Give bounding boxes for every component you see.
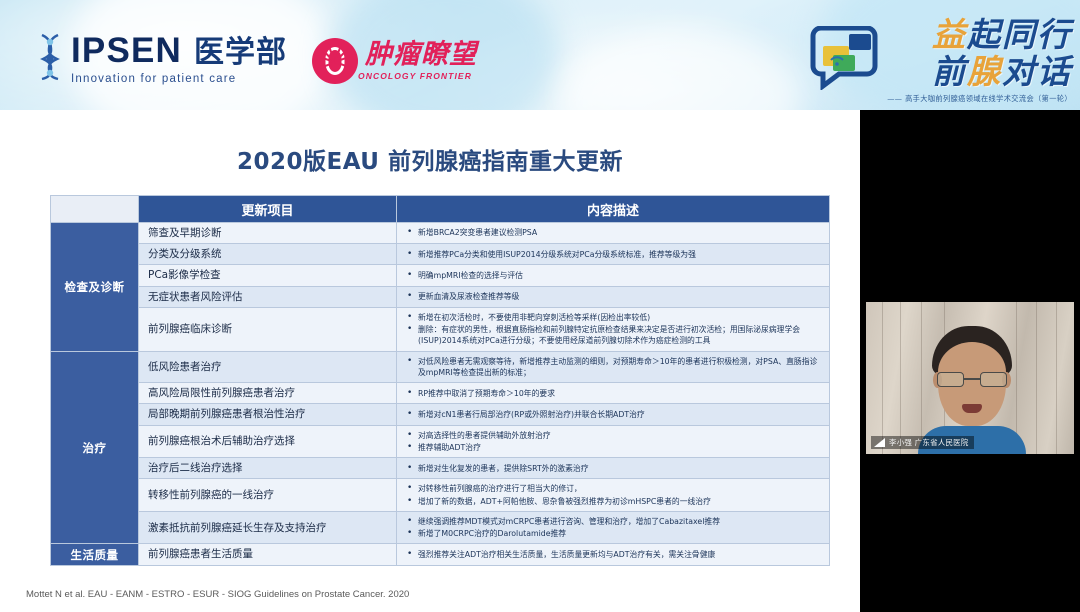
conference-logo: 益起同行 前腺对话 —— 高手大咖前列腺癌领域在线学术交流会（第一轮） xyxy=(809,18,1072,104)
table-description-cell: 新增在初次活检时，不要使用非靶向穿刺活检等采样(因检出率较低)删除：有症状的男性… xyxy=(397,307,830,351)
slide-title: 2020版EAU 前列腺癌指南重大更新 xyxy=(0,142,860,176)
table-item-cell: 前列腺癌临床诊断 xyxy=(139,307,397,351)
table-item-cell: 低风险患者治疗 xyxy=(139,351,397,383)
description-bullet: 对转移性前列腺癌的治疗进行了相当大的修订， xyxy=(407,483,823,494)
participant-name-label: 李小强 广东省人民医院 xyxy=(871,436,974,449)
table-description-cell: 新增BRCA2突变患者建议检测PSA xyxy=(397,223,830,244)
conf-title-line2-a: 前 xyxy=(932,52,967,91)
signal-strength-icon xyxy=(874,438,885,447)
oncology-frontier-cn: 肿瘤瞭望 xyxy=(365,41,477,68)
description-bullet: 对高选择性的患者提供辅助外放射治疗 xyxy=(407,430,823,441)
table-category-cell: 治疗 xyxy=(51,351,139,544)
slide-footer-citation: Mottet N et al. EAU - EANM - ESTRO - ESU… xyxy=(26,589,409,600)
description-bullet: 强烈推荐关注ADT治疗相关生活质量，生活质量更新均与ADT治疗有关，需关注骨健康 xyxy=(407,549,823,560)
description-bullet: RP推荐中取消了预期寿命＞10年的要求 xyxy=(407,388,823,399)
conf-title-line1: 起同行 xyxy=(967,15,1072,54)
description-bullet: 新增对cN1患者行局部治疗(RP或外照射治疗)并联合长期ADT治疗 xyxy=(407,409,823,420)
table-description-cell: 强烈推荐关注ADT治疗相关生活质量，生活质量更新均与ADT治疗有关，需关注骨健康 xyxy=(397,544,830,565)
conf-title-char-1: 益 xyxy=(932,15,967,54)
table-row: 局部晚期前列腺癌患者根治性治疗新增对cN1患者行局部治疗(RP或外照射治疗)并联… xyxy=(51,404,830,425)
table-category-cell: 生活质量 xyxy=(51,544,139,565)
presentation-slide: 2020版EAU 前列腺癌指南重大更新 更新项目 内容描述 检查及诊断筛查及早期… xyxy=(0,110,860,612)
glasses-icon xyxy=(937,372,1007,387)
table-row: 前列腺癌临床诊断新增在初次活检时，不要使用非靶向穿刺活检等采样(因检出率较低)删… xyxy=(51,307,830,351)
conf-title-line2-b: 腺 xyxy=(967,52,1002,91)
chat-bubble-icon xyxy=(809,26,879,90)
oncology-frontier-en: ONCOLOGY FRONTIER xyxy=(358,71,477,81)
table-row: 治疗后二线治疗选择新增对生化复发的患者，提供除SRT外的激素治疗 xyxy=(51,458,830,479)
table-item-cell: 高风险局限性前列腺癌患者治疗 xyxy=(139,383,397,404)
table-item-cell: 前列腺癌患者生活质量 xyxy=(139,544,397,565)
participant-video-tile[interactable]: 李小强 广东省人民医院 xyxy=(866,302,1074,454)
table-row: 激素抵抗前列腺癌延长生存及支持治疗继续强调推荐MDT模式对mCRPC患者进行咨询… xyxy=(51,511,830,544)
table-description-cell: 新增推荐PCa分类和使用ISUP2014分级系统对PCa分级系统标准，推荐等级为… xyxy=(397,244,830,265)
table-row: 高风险局限性前列腺癌患者治疗RP推荐中取消了预期寿命＞10年的要求 xyxy=(51,383,830,404)
table-description-cell: 更新血清及尿液检查推荐等级 xyxy=(397,286,830,307)
table-item-cell: 无症状患者风险评估 xyxy=(139,286,397,307)
table-header-row: 更新项目 内容描述 xyxy=(51,196,830,223)
table-body: 检查及诊断筛查及早期诊断新增BRCA2突变患者建议检测PSA分类及分级系统新增推… xyxy=(51,223,830,566)
header-banner: IPSEN 医学部 Innovation for patient care xyxy=(0,0,1080,110)
table-item-cell: 激素抵抗前列腺癌延长生存及支持治疗 xyxy=(139,511,397,544)
banner-blob xyxy=(560,30,800,110)
table-description-cell: 新增对生化复发的患者，提供除SRT外的激素治疗 xyxy=(397,458,830,479)
table-item-cell: 筛查及早期诊断 xyxy=(139,223,397,244)
table-item-cell: 分类及分级系统 xyxy=(139,244,397,265)
description-bullet: 更新血清及尿液检查推荐等级 xyxy=(407,291,823,302)
description-bullet: 继续强调推荐MDT模式对mCRPC患者进行咨询、管理和治疗，增加了Cabazit… xyxy=(407,516,823,527)
description-bullet: 新增BRCA2突变患者建议检测PSA xyxy=(407,227,823,238)
video-panel[interactable]: 李小强 广东省人民医院 xyxy=(860,110,1080,612)
description-bullet: 增加了新的数据，ADT+阿帕他胺、恩杂鲁被强烈推荐为初诊mHSPC患者的一线治疗 xyxy=(407,496,823,507)
table-description-cell: 继续强调推荐MDT模式对mCRPC患者进行咨询、管理和治疗，增加了Cabazit… xyxy=(397,511,830,544)
table-header-corner xyxy=(51,196,139,223)
table-header-item: 更新项目 xyxy=(139,196,397,223)
table-description-cell: 对高选择性的患者提供辅助外放射治疗推荐辅助ADT治疗 xyxy=(397,425,830,458)
description-bullet: 明确mpMRI检查的选择与评估 xyxy=(407,270,823,281)
table-row: 治疗低风险患者治疗对低风险患者无需观察等待，新增推荐主动监测的细则，对预期寿命＞… xyxy=(51,351,830,383)
ipsen-wordmark: IPSEN xyxy=(71,33,182,68)
ipsen-logo: IPSEN 医学部 Innovation for patient care xyxy=(33,33,287,85)
description-bullet: 新增了M0CRPC治疗的Darolutamide推荐 xyxy=(407,528,823,539)
description-bullet: 新增推荐PCa分类和使用ISUP2014分级系统对PCa分级系统标准，推荐等级为… xyxy=(407,249,823,260)
screen: IPSEN 医学部 Innovation for patient care xyxy=(0,0,1080,612)
description-bullet: 删除：有症状的男性，根据直肠指检和前列腺特定抗原检查结果来决定是否进行初次活检；… xyxy=(407,324,823,347)
table-item-cell: 转移性前列腺癌的一线治疗 xyxy=(139,479,397,512)
conference-subtitle: —— 高手大咖前列腺癌领域在线学术交流会（第一轮） xyxy=(887,94,1072,104)
crab-logo-icon xyxy=(312,38,358,84)
table-row: 生活质量前列腺癌患者生活质量强烈推荐关注ADT治疗相关生活质量，生活质量更新均与… xyxy=(51,544,830,565)
ipsen-tagline: Innovation for patient care xyxy=(71,73,287,85)
description-bullet: 推荐辅助ADT治疗 xyxy=(407,442,823,453)
table-description-cell: 明确mpMRI检查的选择与评估 xyxy=(397,265,830,286)
table-item-cell: 治疗后二线治疗选择 xyxy=(139,458,397,479)
table-category-cell: 检查及诊断 xyxy=(51,223,139,352)
dna-helix-icon xyxy=(33,33,67,81)
description-bullet: 新增在初次活检时，不要使用非靶向穿刺活检等采样(因检出率较低) xyxy=(407,312,823,323)
conf-title-line2-c: 对话 xyxy=(1002,52,1072,91)
table-row: 前列腺癌根治术后辅助治疗选择对高选择性的患者提供辅助外放射治疗推荐辅助ADT治疗 xyxy=(51,425,830,458)
description-bullet: 对低风险患者无需观察等待，新增推荐主动监测的细则，对预期寿命＞10年的患者进行积… xyxy=(407,356,823,379)
ipsen-department-label: 医学部 xyxy=(194,38,287,68)
table-item-cell: 前列腺癌根治术后辅助治疗选择 xyxy=(139,425,397,458)
description-bullet: 新增对生化复发的患者，提供除SRT外的激素治疗 xyxy=(407,463,823,474)
participant-avatar xyxy=(920,326,1024,454)
table-row: 分类及分级系统新增推荐PCa分类和使用ISUP2014分级系统对PCa分级系统标… xyxy=(51,244,830,265)
table-description-cell: 新增对cN1患者行局部治疗(RP或外照射治疗)并联合长期ADT治疗 xyxy=(397,404,830,425)
participant-name-text: 李小强 广东省人民医院 xyxy=(889,437,969,448)
oncology-frontier-logo: 肿瘤瞭望 ONCOLOGY FRONTIER xyxy=(312,38,477,84)
table-description-cell: 对低风险患者无需观察等待，新增推荐主动监测的细则，对预期寿命＞10年的患者进行积… xyxy=(397,351,830,383)
guideline-update-table: 更新项目 内容描述 检查及诊断筛查及早期诊断新增BRCA2突变患者建议检测PSA… xyxy=(50,195,830,566)
table-description-cell: 对转移性前列腺癌的治疗进行了相当大的修订，增加了新的数据，ADT+阿帕他胺、恩杂… xyxy=(397,479,830,512)
table-item-cell: PCa影像学检查 xyxy=(139,265,397,286)
table-description-cell: RP推荐中取消了预期寿命＞10年的要求 xyxy=(397,383,830,404)
table-row: PCa影像学检查明确mpMRI检查的选择与评估 xyxy=(51,265,830,286)
table-item-cell: 局部晚期前列腺癌患者根治性治疗 xyxy=(139,404,397,425)
table-row: 转移性前列腺癌的一线治疗对转移性前列腺癌的治疗进行了相当大的修订，增加了新的数据… xyxy=(51,479,830,512)
table-row: 检查及诊断筛查及早期诊断新增BRCA2突变患者建议检测PSA xyxy=(51,223,830,244)
table-header-desc: 内容描述 xyxy=(397,196,830,223)
table-row: 无症状患者风险评估更新血清及尿液检查推荐等级 xyxy=(51,286,830,307)
